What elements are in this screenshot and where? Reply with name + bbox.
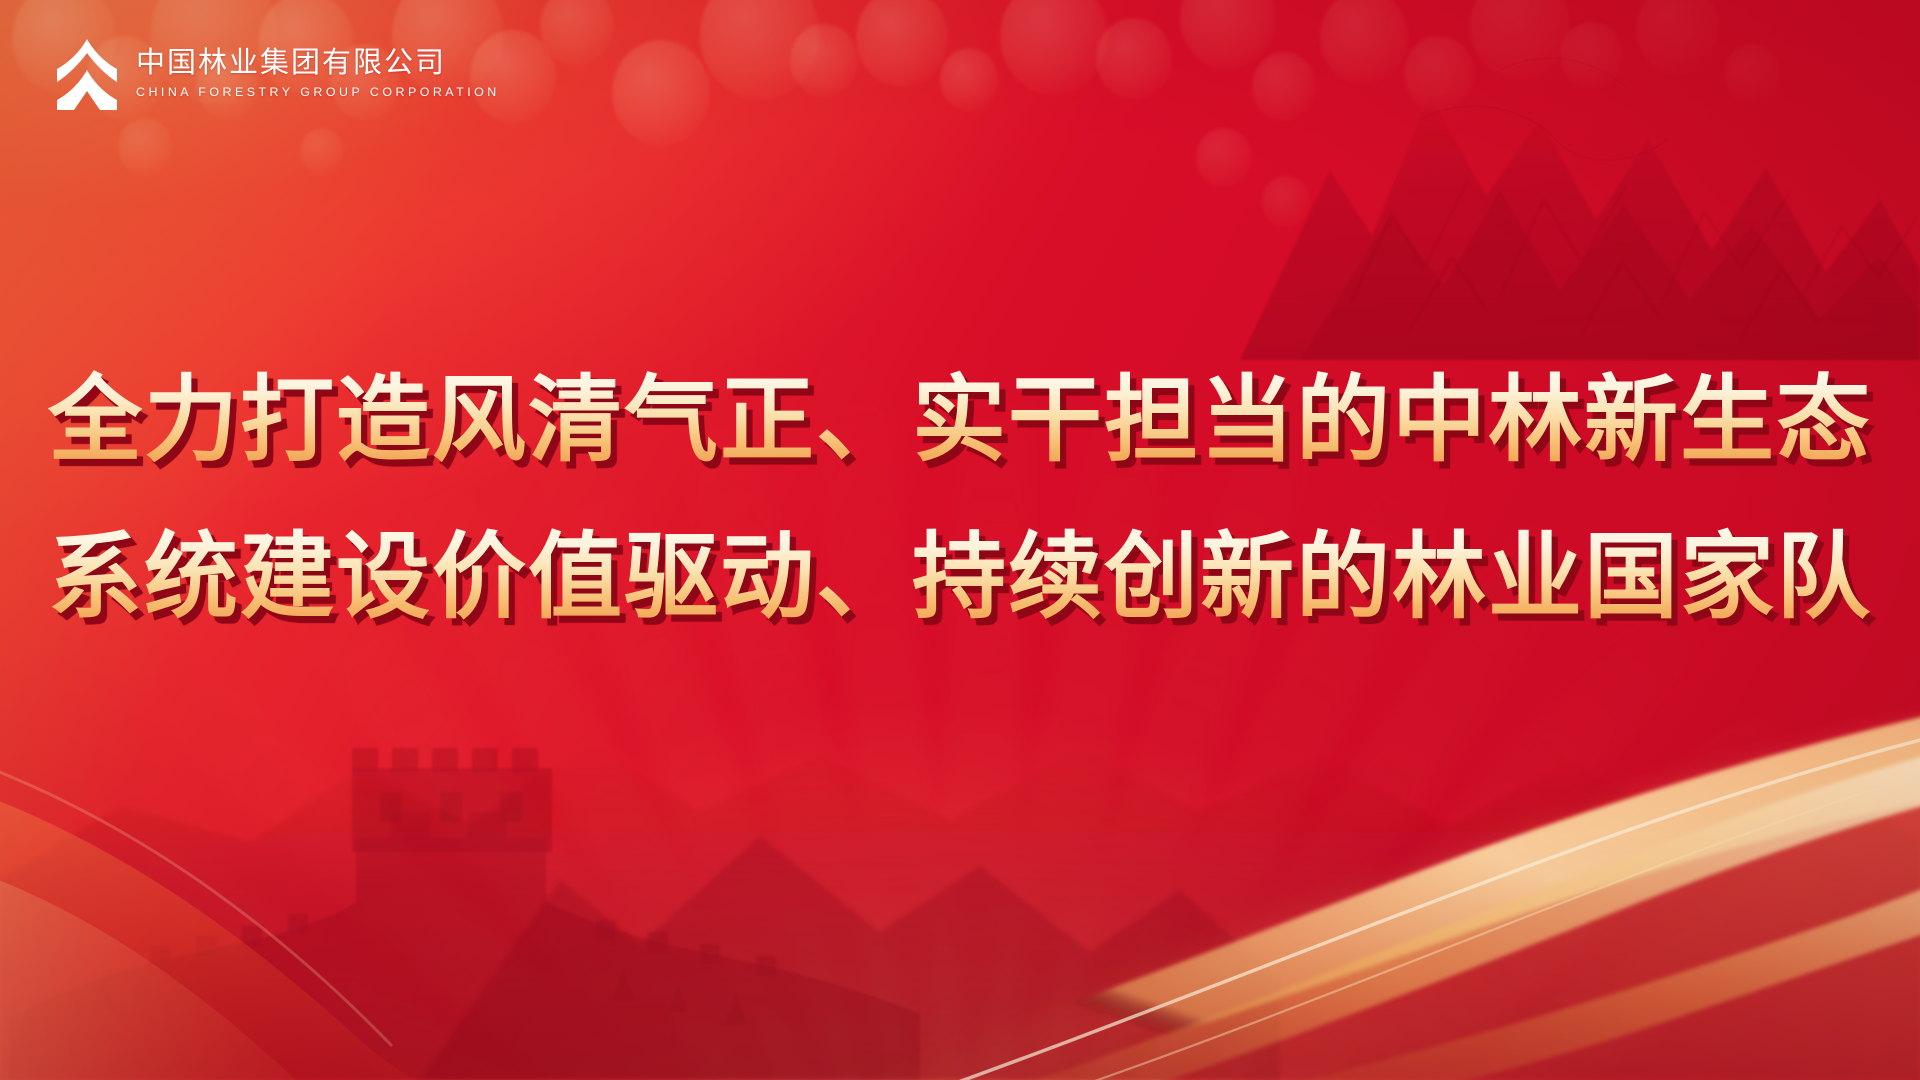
brand-text: 中国林业集团有限公司 CHINA FORESTRY GROUP CORPORAT… bbox=[136, 46, 500, 101]
bokeh-circle bbox=[540, 0, 614, 66]
light-ray bbox=[939, 697, 1920, 1080]
bokeh-circle bbox=[700, 0, 820, 100]
bokeh-circle bbox=[118, 118, 172, 176]
slogan-line-1: 全力打造风清气正、实干担当的中林新生态 全力打造风清气正、实干担当的中林新生态 bbox=[40, 352, 1880, 487]
brand-name-cn: 中国林业集团有限公司 bbox=[136, 46, 500, 80]
bokeh-circle bbox=[790, 24, 858, 97]
bokeh-circle bbox=[612, 40, 710, 146]
slogan-banner: 中国林业集团有限公司 CHINA FORESTRY GROUP CORPORAT… bbox=[0, 0, 1920, 1080]
slogan-headline: 全力打造风清气正、实干担当的中林新生态 全力打造风清气正、实干担当的中林新生态 … bbox=[0, 352, 1920, 645]
bokeh-circle bbox=[1096, 18, 1172, 100]
bokeh-circle bbox=[1196, 128, 1252, 188]
bokeh-circle bbox=[856, 0, 948, 87]
slogan-line-2: 系统建设价值驱动、持续创新的林业国家队 系统建设价值驱动、持续创新的林业国家队 bbox=[40, 509, 1880, 644]
brand-name-en: CHINA FORESTRY GROUP CORPORATION bbox=[136, 85, 500, 101]
gold-ribbon-decoration bbox=[760, 690, 1920, 1080]
red-silk-drape-decoration bbox=[0, 740, 800, 1080]
bokeh-circle bbox=[1560, 22, 1622, 89]
bokeh-circle bbox=[1000, 0, 1108, 95]
bokeh-circle bbox=[1320, 0, 1408, 85]
bokeh-circle bbox=[1470, 0, 1570, 80]
light-ray bbox=[0, 660, 982, 1080]
bokeh-circle bbox=[1636, 0, 1720, 75]
bokeh-circle bbox=[1180, 0, 1276, 70]
bokeh-circle bbox=[1404, 36, 1474, 112]
slogan-line-1-text: 全力打造风清气正、实干担当的中林新生态 bbox=[48, 352, 1872, 487]
brand-logo-lockup[interactable]: 中国林业集团有限公司 CHINA FORESTRY GROUP CORPORAT… bbox=[54, 36, 500, 110]
bokeh-circle bbox=[1724, 44, 1780, 104]
bokeh-circle bbox=[940, 48, 998, 111]
bokeh-circle bbox=[1252, 52, 1316, 121]
slogan-line-2-text: 系统建设价值驱动、持续创新的林业国家队 bbox=[48, 509, 1872, 644]
pagoda-mountain-logo-icon bbox=[54, 36, 120, 110]
bokeh-circle bbox=[300, 128, 344, 176]
bokeh-circle bbox=[1262, 176, 1310, 228]
